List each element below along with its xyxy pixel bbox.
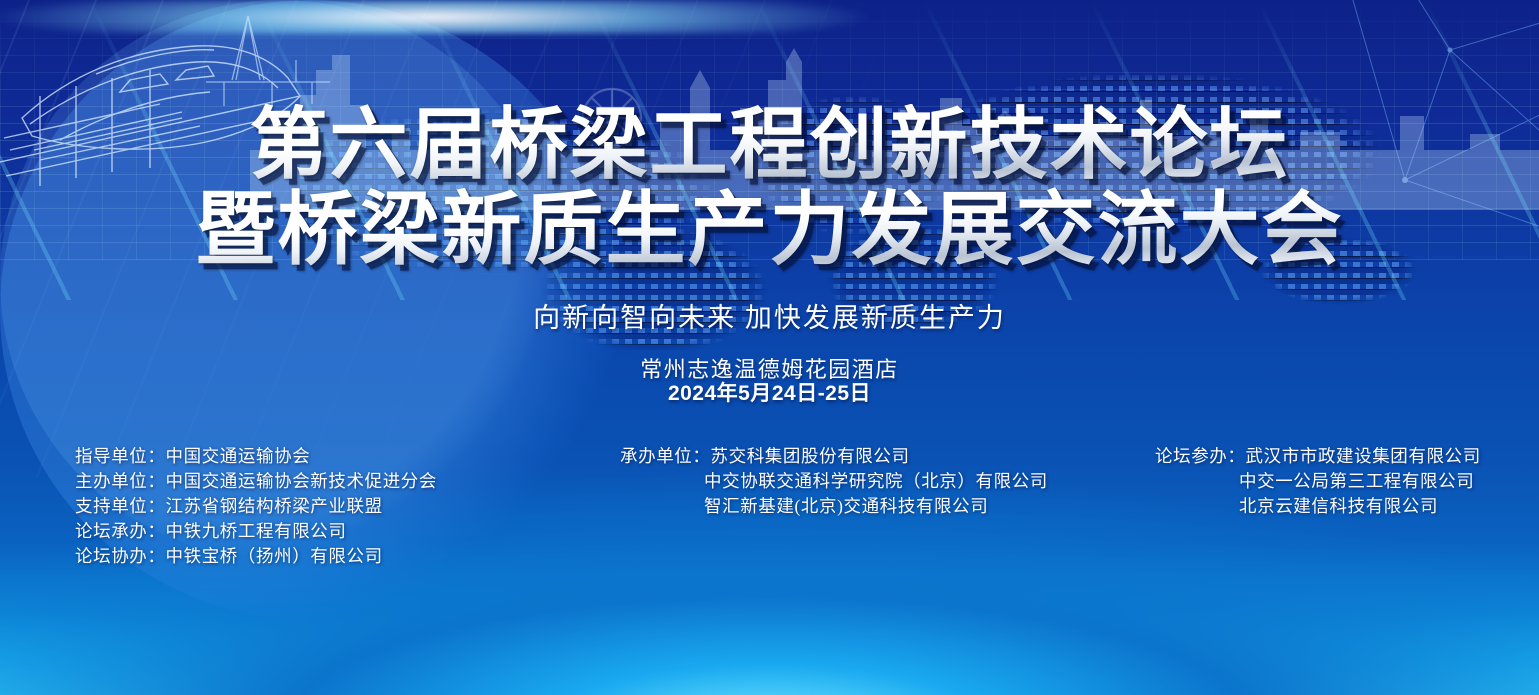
org-label: 承办单位：	[620, 446, 711, 466]
organizers-block: 指导单位：中国交通运输协会 主办单位：中国交通运输协会新技术促进分会 支持单位：…	[0, 444, 1539, 564]
title-block: 第六届桥梁工程创新技术论坛 暨桥梁新质生产力发展交流大会	[0, 104, 1539, 271]
org-label: 支持单位：	[75, 496, 166, 516]
org-row: 支持单位：江苏省钢结构桥梁产业联盟	[75, 494, 437, 519]
org-value: 中铁九桥工程有限公司	[166, 521, 347, 541]
slogan: 向新向智向未来 加快发展新质生产力	[0, 296, 1539, 335]
org-row: 论坛承办：中铁九桥工程有限公司	[75, 519, 437, 544]
org-value: 江苏省钢结构桥梁产业联盟	[166, 496, 383, 516]
org-row: 北京云建信科技有限公司	[1155, 494, 1481, 519]
conference-banner: 第六届桥梁工程创新技术论坛 暨桥梁新质生产力发展交流大会 向新向智向未来 加快发…	[0, 0, 1539, 695]
org-row: 中交协联交通科学研究院（北京）有限公司	[620, 469, 1048, 494]
org-row: 指导单位：中国交通运输协会	[75, 444, 437, 469]
org-label: 指导单位：	[75, 446, 166, 466]
org-label: 主办单位：	[75, 471, 166, 491]
organizers-right-column: 论坛参办：武汉市市政建设集团有限公司 中交一公局第三工程有限公司 北京云建信科技…	[1155, 444, 1481, 519]
org-value: 武汉市市政建设集团有限公司	[1246, 446, 1481, 466]
org-label: 论坛承办：	[75, 521, 166, 541]
event-date: 2024年5月24日-25日	[0, 377, 1539, 407]
org-value: 中国交通运输协会	[166, 446, 311, 466]
org-value: 中铁宝桥（扬州）有限公司	[166, 546, 383, 566]
banner-content: 第六届桥梁工程创新技术论坛 暨桥梁新质生产力发展交流大会 向新向智向未来 加快发…	[0, 0, 1539, 695]
org-value: 中国交通运输协会新技术促进分会	[166, 471, 438, 491]
organizers-center-column: 承办单位：苏交科集团股份有限公司 中交协联交通科学研究院（北京）有限公司 智汇新…	[620, 444, 1048, 519]
org-label: 论坛协办：	[75, 546, 166, 566]
org-row: 论坛协办：中铁宝桥（扬州）有限公司	[75, 544, 437, 569]
title-line-2: 暨桥梁新质生产力发展交流大会	[0, 187, 1539, 272]
org-row: 智汇新基建(北京)交通科技有限公司	[620, 494, 1048, 519]
org-row: 承办单位：苏交科集团股份有限公司	[620, 444, 1048, 469]
org-row: 主办单位：中国交通运输协会新技术促进分会	[75, 469, 437, 494]
org-row: 论坛参办：武汉市市政建设集团有限公司	[1155, 444, 1481, 469]
org-row: 中交一公局第三工程有限公司	[1155, 469, 1481, 494]
title-line-1: 第六届桥梁工程创新技术论坛	[0, 104, 1539, 187]
org-label: 论坛参办：	[1155, 446, 1246, 466]
org-value: 苏交科集团股份有限公司	[711, 446, 910, 466]
organizers-left-column: 指导单位：中国交通运输协会 主办单位：中国交通运输协会新技术促进分会 支持单位：…	[75, 444, 437, 569]
